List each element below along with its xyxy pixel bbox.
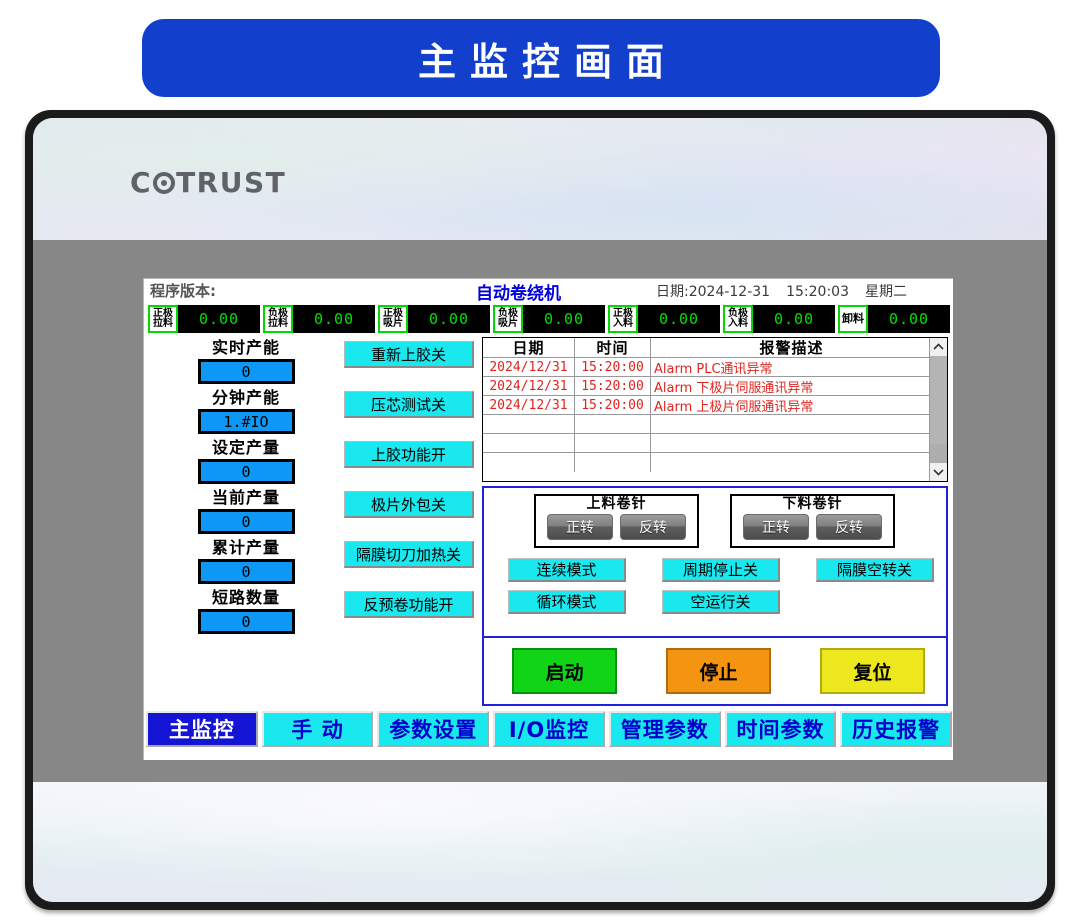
- tab-time-parameters[interactable]: 时间参数: [725, 711, 837, 747]
- production-label: 短路数量: [156, 587, 336, 609]
- logo-letters-trust: TRUST: [176, 166, 286, 199]
- jog-forward-button-unloading[interactable]: 正转: [743, 514, 809, 540]
- jog-group-title: 上料卷针: [536, 496, 697, 513]
- alarm-cell-time: 15:20:00: [575, 396, 651, 414]
- meter-tag-bottom: 入料: [613, 319, 633, 329]
- meter-negative-feed[interactable]: 负极 入料 0.00: [723, 305, 835, 333]
- tab-management-parameters[interactable]: 管理参数: [609, 711, 721, 747]
- tab-io-monitor[interactable]: I/O监控: [493, 711, 605, 747]
- production-value[interactable]: 0: [198, 359, 295, 384]
- table-row[interactable]: [483, 434, 929, 453]
- meter-value: 0.00: [638, 305, 720, 333]
- jog-group-unloading-needle: 下料卷针 正转 反转: [730, 494, 895, 548]
- meter-unload[interactable]: 卸料 0.00: [838, 305, 950, 333]
- action-button-panel: 启动 停止 复位: [482, 638, 948, 706]
- scrollbar-thumb[interactable]: [930, 356, 947, 444]
- production-label: 实时产能: [156, 337, 336, 359]
- alarm-table: 日期 时间 报警描述 2024/12/31 15:20:00 Alarm PLC…: [483, 338, 929, 481]
- datetime-display: 日期:2024-12-3115:20:03星期二: [656, 281, 907, 301]
- production-value[interactable]: 0: [198, 509, 295, 534]
- logo-letter-c: C: [130, 166, 152, 199]
- production-value[interactable]: 0: [198, 459, 295, 484]
- meter-tag: 正极 拉料: [148, 305, 178, 333]
- page-title-banner: 主监控画面: [142, 19, 940, 97]
- stop-button[interactable]: 停止: [666, 648, 771, 694]
- hmi-device-body: CTRUST 程序版本: 自动卷绕机 日期:2024-12-3115:20:03…: [33, 118, 1047, 902]
- jog-group-loading-needle: 上料卷针 正转 反转: [534, 494, 699, 548]
- production-label: 累计产量: [156, 537, 336, 559]
- meter-tag: 负极 吸片: [493, 305, 523, 333]
- program-version-label: 程序版本:: [150, 280, 216, 301]
- alarm-cell-time: [575, 434, 651, 452]
- machine-name-title: 自动卷绕机: [476, 279, 561, 304]
- production-label: 设定产量: [156, 437, 336, 459]
- jog-group-title: 下料卷针: [732, 496, 893, 513]
- meter-positive-suction[interactable]: 正极 吸片 0.00: [378, 305, 490, 333]
- meter-tag: 负极 拉料: [263, 305, 293, 333]
- table-row[interactable]: [483, 453, 929, 472]
- production-value[interactable]: 0: [198, 609, 295, 634]
- function-button-diaphragm-cutter-heat[interactable]: 隔膜切刀加热关: [344, 541, 474, 568]
- chevron-down-icon[interactable]: [930, 463, 947, 481]
- alarm-cell-date: [483, 453, 575, 472]
- meter-value: 0.00: [408, 305, 490, 333]
- alarm-cell-description: Alarm 下极片伺服通讯异常: [651, 377, 929, 395]
- meter-value: 0.00: [868, 305, 950, 333]
- scrollbar-track[interactable]: [930, 356, 947, 463]
- alarm-cell-date: [483, 415, 575, 433]
- cotrust-logo: CTRUST: [130, 166, 286, 199]
- time-value: 15:20:03: [786, 284, 849, 300]
- meter-value: 0.00: [293, 305, 375, 333]
- jog-reverse-button-loading[interactable]: 反转: [620, 514, 686, 540]
- control-panel: 上料卷针 正转 反转 下料卷针 正转 反转 连续模式 周期停止关 隔膜空转关: [482, 486, 948, 638]
- production-item-realtime: 实时产能 0: [156, 337, 336, 384]
- production-label: 当前产量: [156, 487, 336, 509]
- meter-row: 正极 拉料 0.00 负极 拉料 0.00 正极 吸片: [148, 305, 950, 333]
- jog-forward-button-loading[interactable]: 正转: [547, 514, 613, 540]
- alarm-cell-description: [651, 434, 929, 452]
- alarm-cell-description: [651, 415, 929, 433]
- alarm-cell-time: 15:20:00: [575, 358, 651, 376]
- alarm-cell-time: [575, 415, 651, 433]
- function-button-gluefunction[interactable]: 上胶功能开: [344, 441, 474, 468]
- function-button-prewind-reverse[interactable]: 反预卷功能开: [344, 591, 474, 618]
- alarm-table-header: 日期 时间 报警描述: [483, 338, 929, 358]
- navigation-tab-bar: 主监控 手 动 参数设置 I/O监控 管理参数 时间参数 历史报警: [144, 709, 954, 749]
- reset-button[interactable]: 复位: [820, 648, 925, 694]
- alarm-cell-description: [651, 453, 929, 472]
- date-value: 2024-12-31: [689, 284, 770, 300]
- alarm-scrollbar[interactable]: [929, 338, 947, 481]
- meter-positive-pull[interactable]: 正极 拉料 0.00: [148, 305, 260, 333]
- screen-header-row: 程序版本: 自动卷绕机 日期:2024-12-3115:20:03星期二: [144, 279, 953, 303]
- function-button-polewrap[interactable]: 极片外包关: [344, 491, 474, 518]
- meter-tag-bottom: 吸片: [498, 319, 518, 329]
- table-row[interactable]: 2024/12/31 15:20:00 Alarm PLC通讯异常: [483, 358, 929, 377]
- hmi-device-frame: CTRUST 程序版本: 自动卷绕机 日期:2024-12-3115:20:03…: [25, 110, 1055, 910]
- tab-main-monitor[interactable]: 主监控: [146, 711, 258, 747]
- chevron-up-icon[interactable]: [930, 338, 947, 356]
- production-column: 实时产能 0 分钟产能 1.#IO 设定产量 0 当前产量 0 累计产量 0: [156, 337, 336, 637]
- alarm-cell-description: Alarm 上极片伺服通讯异常: [651, 396, 929, 414]
- date-label: 日期:: [656, 284, 689, 300]
- mode-button-diaphragm-idle[interactable]: 隔膜空转关: [816, 558, 934, 582]
- function-button-coretest[interactable]: 压芯测试关: [344, 391, 474, 418]
- production-item-shortcircuit: 短路数量 0: [156, 587, 336, 634]
- weekday-value: 星期二: [865, 284, 907, 300]
- meter-tag-bottom: 拉料: [153, 319, 173, 329]
- meter-value: 0.00: [178, 305, 260, 333]
- mode-button-loop[interactable]: 循环模式: [508, 590, 626, 614]
- meter-positive-feed[interactable]: 正极 入料 0.00: [608, 305, 720, 333]
- alarm-cell-date: 2024/12/31: [483, 358, 575, 376]
- meter-tag: 负极 入料: [723, 305, 753, 333]
- target-ring-icon: [153, 172, 175, 194]
- alarm-header-time: 时间: [575, 338, 651, 357]
- tab-parameter-settings[interactable]: 参数设置: [377, 711, 489, 747]
- meter-value: 0.00: [753, 305, 835, 333]
- meter-tag-bottom: 拉料: [268, 319, 288, 329]
- alarm-cell-description: Alarm PLC通讯异常: [651, 358, 929, 376]
- hmi-screen: 程序版本: 自动卷绕机 日期:2024-12-3115:20:03星期二 正极 …: [143, 278, 953, 760]
- alarm-header-date: 日期: [483, 338, 575, 357]
- alarm-cell-date: 2024/12/31: [483, 396, 575, 414]
- mode-button-dry-run[interactable]: 空运行关: [662, 590, 780, 614]
- production-label: 分钟产能: [156, 387, 336, 409]
- meter-tag: 正极 入料: [608, 305, 638, 333]
- meter-tag-bottom: 吸片: [383, 319, 403, 329]
- tab-history-alarms[interactable]: 历史报警: [840, 711, 952, 747]
- table-row[interactable]: 2024/12/31 15:20:00 Alarm 下极片伺服通讯异常: [483, 377, 929, 396]
- alarm-cell-time: 15:20:00: [575, 377, 651, 395]
- alarm-cell-date: 2024/12/31: [483, 377, 575, 395]
- page-title: 主监控画面: [404, 31, 678, 86]
- production-item-total: 累计产量 0: [156, 537, 336, 584]
- function-button-column: 重新上胶关 压芯测试关 上胶功能开 极片外包关 隔膜切刀加热关 反预卷功能开: [344, 341, 474, 641]
- production-item-target: 设定产量 0: [156, 437, 336, 484]
- meter-tag-top: 卸料: [842, 314, 864, 324]
- production-value[interactable]: 0: [198, 559, 295, 584]
- meter-tag: 卸料: [838, 305, 868, 333]
- start-button[interactable]: 启动: [512, 648, 617, 694]
- alarm-cell-date: [483, 434, 575, 452]
- jog-reverse-button-unloading[interactable]: 反转: [816, 514, 882, 540]
- mode-button-cycle-stop[interactable]: 周期停止关: [662, 558, 780, 582]
- alarm-table-panel: 日期 时间 报警描述 2024/12/31 15:20:00 Alarm PLC…: [482, 337, 948, 482]
- production-item-current: 当前产量 0: [156, 487, 336, 534]
- meter-tag-bottom: 入料: [728, 319, 748, 329]
- alarm-header-description: 报警描述: [651, 338, 929, 357]
- table-row[interactable]: 2024/12/31 15:20:00 Alarm 上极片伺服通讯异常: [483, 396, 929, 415]
- alarm-cell-time: [575, 453, 651, 472]
- meter-value: 0.00: [523, 305, 605, 333]
- tab-manual[interactable]: 手 动: [262, 711, 374, 747]
- mode-button-continuous[interactable]: 连续模式: [508, 558, 626, 582]
- hmi-bottom-bezel: [33, 782, 1047, 902]
- meter-negative-pull[interactable]: 负极 拉料 0.00: [263, 305, 375, 333]
- meter-tag: 正极 吸片: [378, 305, 408, 333]
- table-row[interactable]: [483, 415, 929, 434]
- meter-negative-suction[interactable]: 负极 吸片 0.00: [493, 305, 605, 333]
- function-button-reglue[interactable]: 重新上胶关: [344, 341, 474, 368]
- production-value[interactable]: 1.#IO: [198, 409, 295, 434]
- production-item-perminute: 分钟产能 1.#IO: [156, 387, 336, 434]
